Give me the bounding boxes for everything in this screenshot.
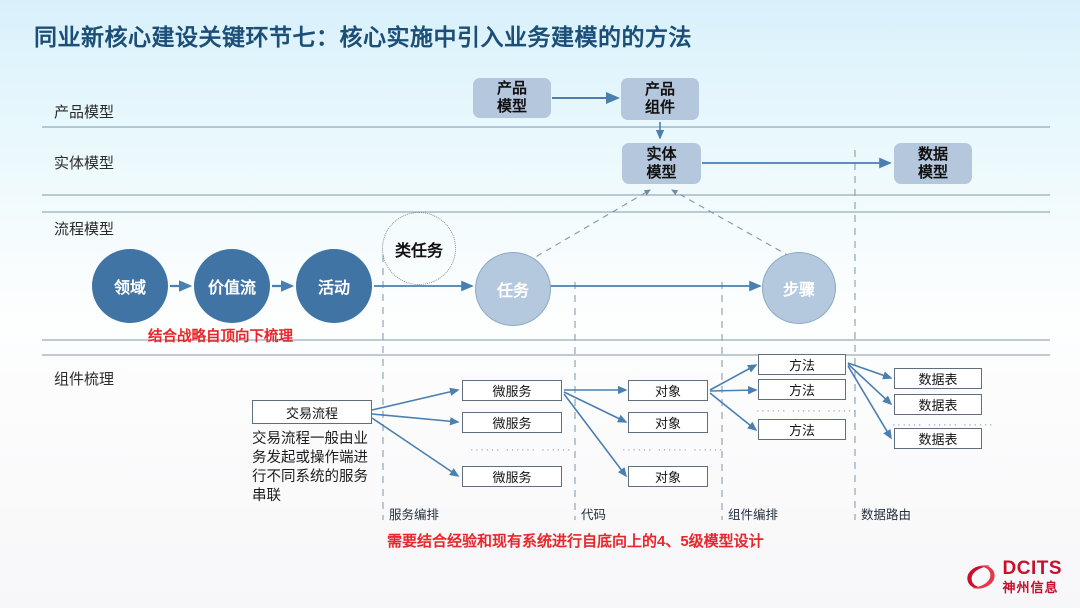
process-circle-domain[interactable]: 领域 (92, 249, 168, 323)
transaction-flow-note: 交易流程一般由业务发起或操作端进行不同系统的服务串联 (252, 430, 377, 506)
product-component-box[interactable]: 产品 组件 (621, 78, 699, 120)
logo-cn: 神州信息 (1003, 581, 1063, 594)
product-component-line2: 组件 (645, 99, 675, 117)
page-title: 同业新核心建设关键环节七：核心实施中引入业务建模的的方法 (34, 18, 692, 52)
data-table-box-2[interactable]: 数据表 (894, 394, 982, 415)
row-label-component-breakdown: 组件梳理 (54, 368, 114, 389)
logo-en: DCITS (1003, 559, 1063, 578)
method-ellipsis: ······ ······ ······ (756, 405, 858, 417)
object-box-1[interactable]: 对象 (628, 380, 708, 401)
microservice-box-1[interactable]: 微服务 (462, 380, 562, 401)
data-table-box-3[interactable]: 数据表 (894, 428, 982, 449)
method-box-1[interactable]: 方法 (758, 354, 846, 375)
column-label-code: 代码 (581, 504, 606, 523)
microservice-ellipsis: ······ ······ ······ (470, 444, 572, 456)
process-circle-task[interactable]: 任务 (475, 252, 551, 326)
object-box-3[interactable]: 对象 (628, 466, 708, 487)
object-ellipsis: ······ ······ ······ (622, 444, 724, 456)
data-model-line1: 数据 (918, 146, 948, 164)
data-model-box[interactable]: 数据 模型 (894, 143, 972, 184)
column-label-data-routing: 数据路由 (861, 504, 911, 523)
process-red-annotation: 结合战略自顶向下梳理 (148, 325, 293, 346)
entity-model-line1: 实体 (646, 146, 676, 164)
entity-model-line2: 模型 (646, 164, 676, 182)
dcits-logo: DCITS 神州信息 (964, 559, 1063, 594)
data-table-box-1[interactable]: 数据表 (894, 368, 982, 389)
column-label-component-orchestration: 组件编排 (728, 504, 778, 523)
footer-red-annotation: 需要结合经验和现有系统进行自底向上的4、5级模型设计 (387, 530, 764, 551)
slide-canvas: 同业新核心建设关键环节七：核心实施中引入业务建模的的方法 (0, 0, 1080, 608)
method-box-2[interactable]: 方法 (758, 379, 846, 400)
product-component-line1: 产品 (645, 81, 675, 99)
product-model-line2: 模型 (497, 98, 527, 116)
process-circle-activity[interactable]: 活动 (296, 249, 372, 323)
entity-model-box[interactable]: 实体 模型 (622, 143, 701, 184)
process-circle-value-stream[interactable]: 价值流 (194, 249, 270, 323)
process-circle-class-task[interactable]: 类任务 (382, 212, 456, 285)
row-label-entity-model: 实体模型 (54, 152, 114, 173)
process-circle-step[interactable]: 步骤 (762, 252, 836, 324)
column-label-service-orchestration: 服务编排 (389, 504, 439, 523)
product-model-box[interactable]: 产品 模型 (473, 78, 551, 118)
row-label-product-model: 产品模型 (54, 101, 114, 122)
dcits-swirl-icon (964, 560, 998, 594)
method-box-3[interactable]: 方法 (758, 419, 846, 440)
microservice-box-3[interactable]: 微服务 (462, 466, 562, 487)
row-label-process-model: 流程模型 (54, 218, 114, 239)
data-model-line2: 模型 (918, 164, 948, 182)
transaction-flow-box[interactable]: 交易流程 (252, 400, 372, 424)
object-box-2[interactable]: 对象 (628, 412, 708, 433)
microservice-box-2[interactable]: 微服务 (462, 412, 562, 433)
logo-text: DCITS 神州信息 (1003, 559, 1063, 594)
product-model-line1: 产品 (497, 80, 527, 98)
